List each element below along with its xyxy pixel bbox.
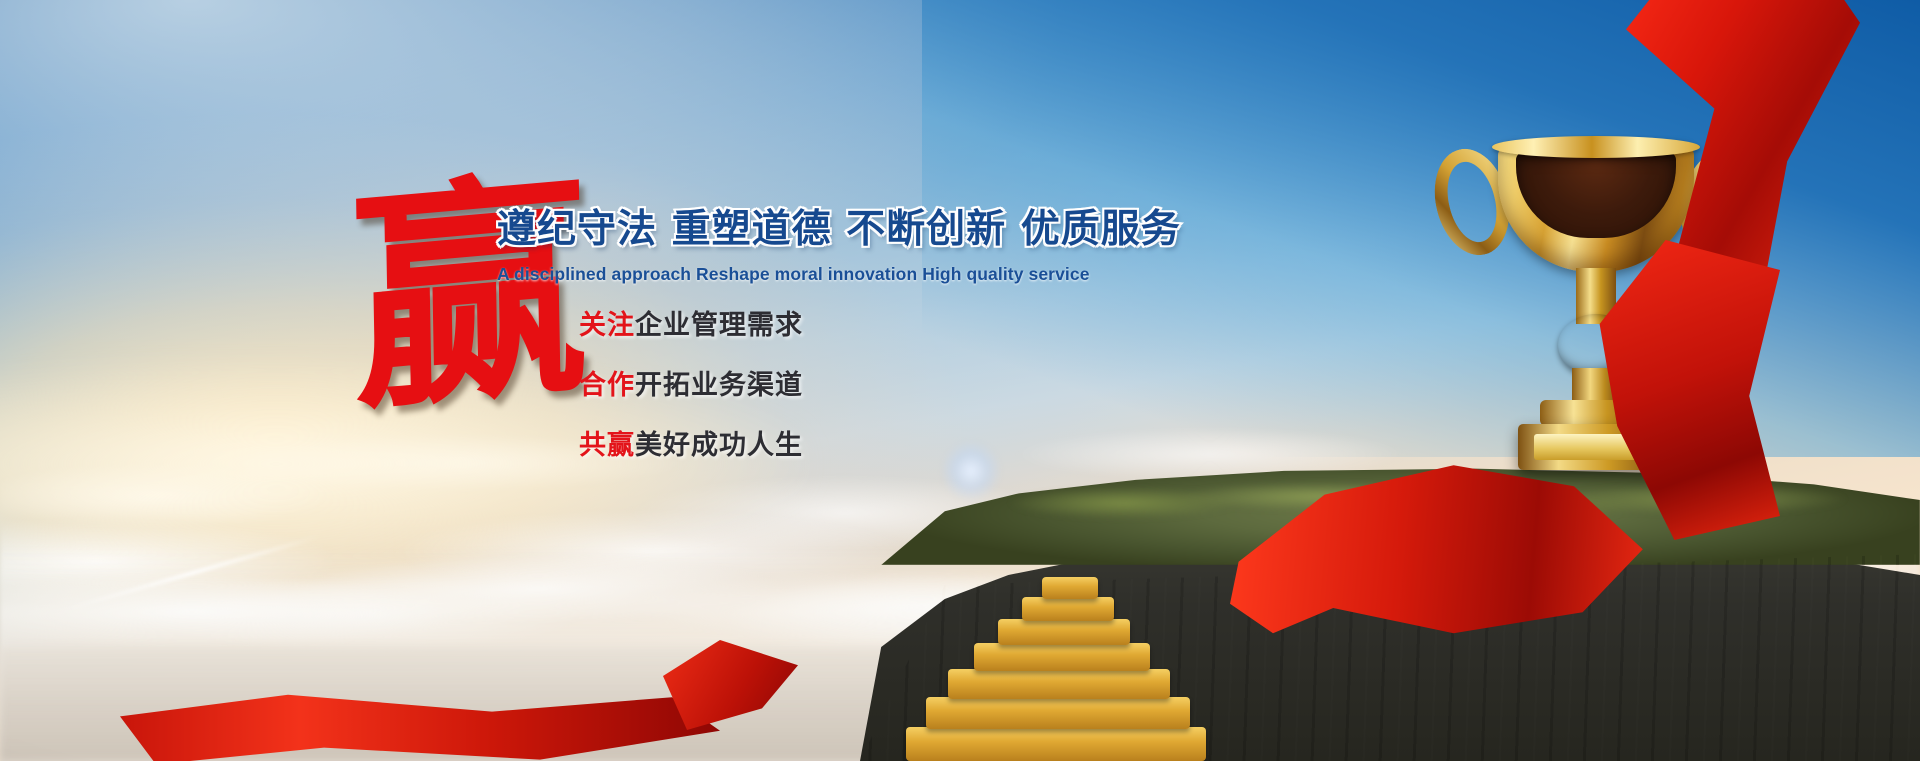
tagline-item: 合作开拓业务渠道 — [579, 363, 1137, 402]
trophy-rim — [1492, 136, 1700, 158]
trophy-plaque — [1534, 434, 1658, 460]
gold-dollar-sign-icon — [900, 561, 1320, 761]
banner-headline: 遵纪守法 重塑道德 不断创新 优质服务 — [497, 198, 1137, 254]
banner-text-block: 遵纪守法 重塑道德 不断创新 优质服务 A disciplined approa… — [497, 198, 1137, 483]
tagline-list: 关注企业管理需求 合作开拓业务渠道 共赢美好成功人生 — [579, 303, 1137, 462]
tagline-rest: 开拓业务渠道 — [635, 370, 803, 401]
trophy-neck — [1572, 368, 1620, 402]
tagline-item: 关注企业管理需求 — [579, 303, 1137, 342]
trophy-knob — [1558, 314, 1634, 376]
banner-subline-english: A disciplined approach Reshape moral inn… — [497, 264, 1137, 285]
tagline-highlight: 关注 — [579, 310, 635, 341]
tagline-highlight: 共赢 — [579, 430, 635, 461]
tagline-rest: 美好成功人生 — [635, 430, 803, 461]
gold-trophy-icon — [1430, 118, 1760, 498]
tagline-item: 共赢美好成功人生 — [579, 423, 1137, 462]
promotional-banner: 赢 遵纪守法 重塑道德 不断创新 优质服务 A disciplined appr… — [0, 0, 1920, 761]
trophy-base-upper — [1540, 400, 1652, 426]
tagline-highlight: 合作 — [579, 370, 635, 401]
tagline-rest: 企业管理需求 — [635, 310, 803, 341]
